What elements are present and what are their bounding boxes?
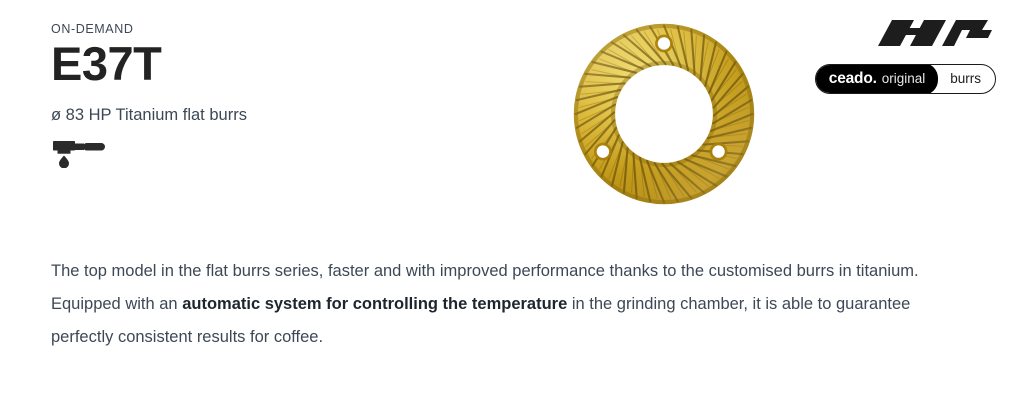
description-highlight: automatic system for controlling the tem… — [182, 295, 567, 313]
page-title: E37T — [51, 39, 521, 89]
origin-badge: ceado. original burrs — [815, 64, 996, 94]
product-category-label: ON-DEMAND — [51, 22, 521, 37]
product-meta: ON-DEMAND E37T ø 83 HP Titanium flat bur… — [51, 22, 521, 173]
hero-section: ON-DEMAND E37T ø 83 HP Titanium flat bur… — [0, 0, 1021, 225]
origin-product-type: burrs — [938, 65, 995, 93]
feature-icon-list — [51, 138, 521, 173]
product-image-burr — [570, 20, 758, 208]
origin-badge-left: ceado. original — [815, 64, 938, 94]
product-subtitle: ø 83 HP Titanium flat burrs — [51, 105, 521, 126]
ceado-brandword: ceado. — [829, 71, 877, 87]
brand-badge-group: ceado. original burrs — [796, 16, 996, 94]
product-description: The top model in the flat burrs series, … — [51, 255, 966, 354]
product-hero-page: ON-DEMAND E37T ø 83 HP Titanium flat bur… — [0, 0, 1021, 402]
hp-logo-icon — [870, 16, 996, 55]
portafilter-drop-icon — [51, 138, 107, 173]
origin-qualifier: original — [882, 72, 926, 86]
